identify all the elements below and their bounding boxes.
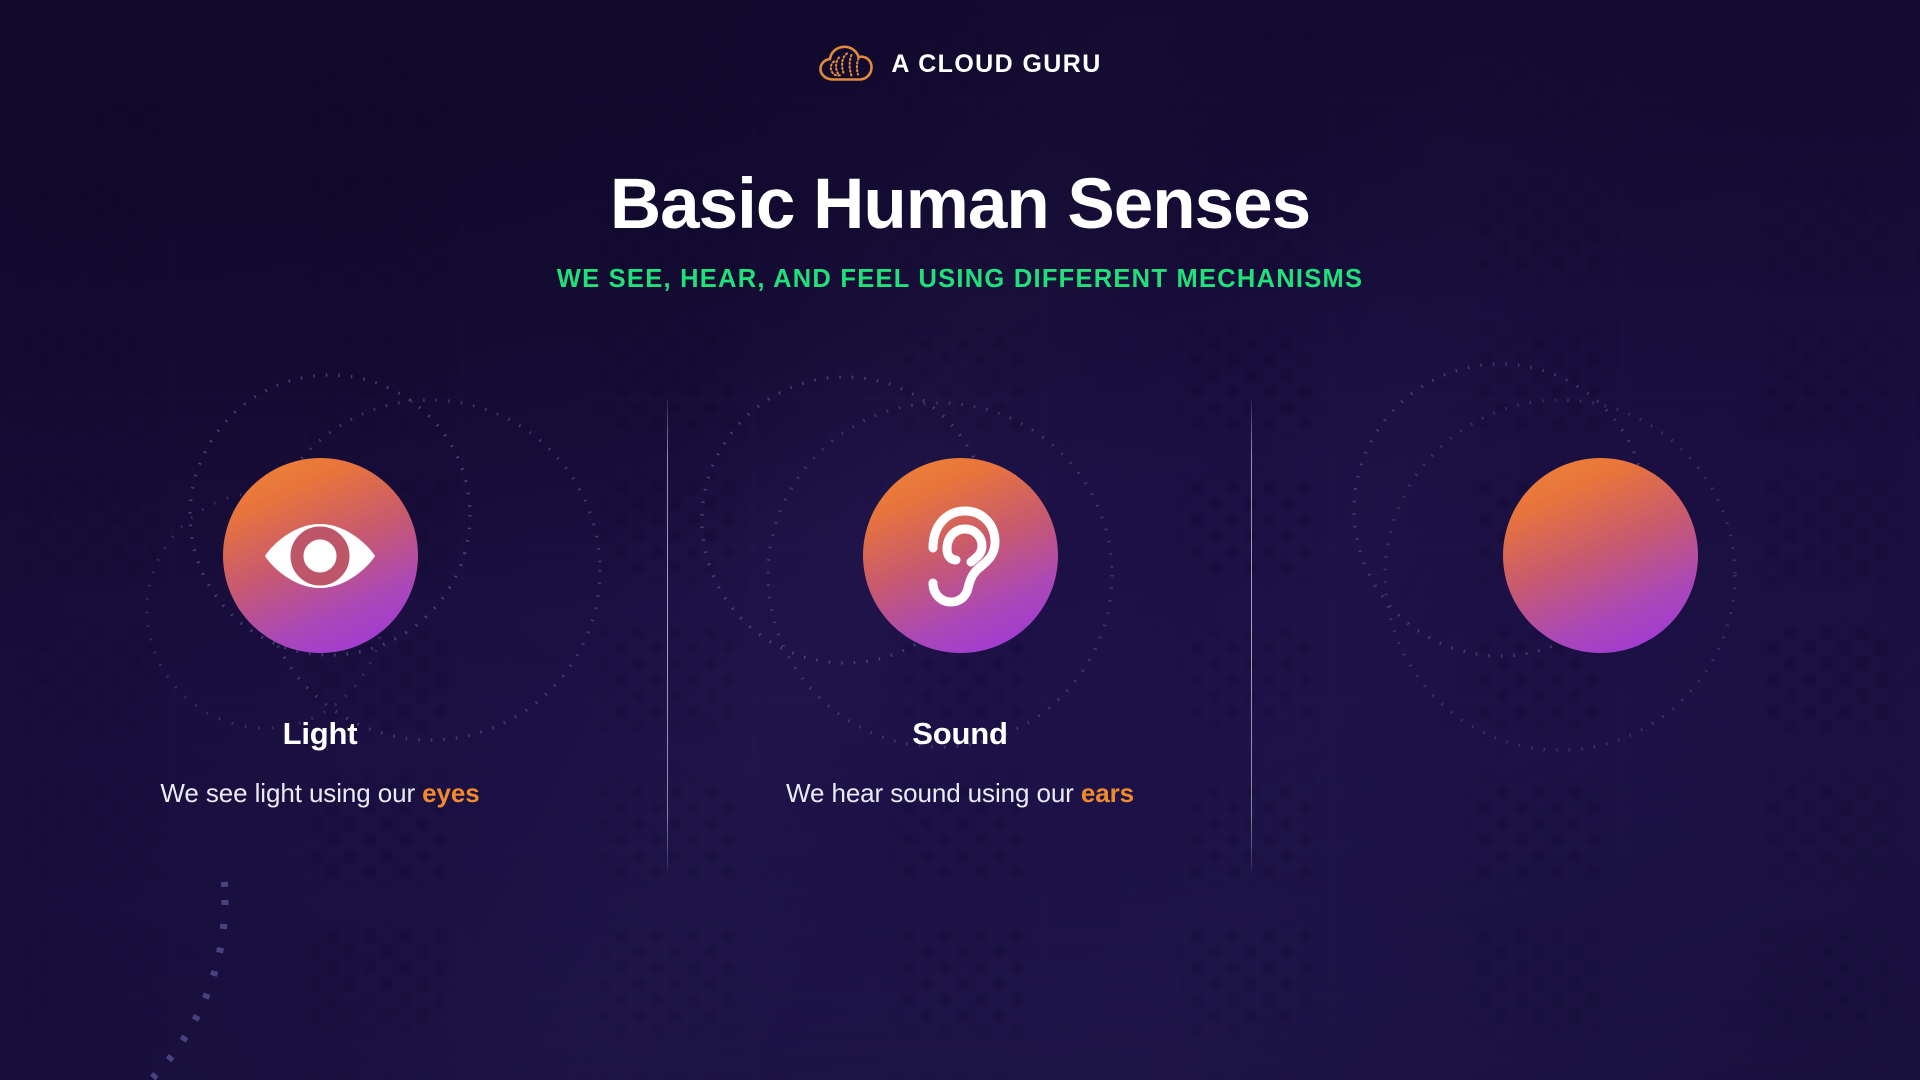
sense-desc-prefix: We see light using our <box>160 778 422 808</box>
dotted-arc-bottom-left <box>0 870 360 1080</box>
sense-desc-highlight: ears <box>1081 778 1134 808</box>
sense-column-sound[interactable]: Sound We hear sound using our ears <box>640 400 1280 870</box>
slide-root: A CLOUD GURU Basic Human Senses WE SEE, … <box>0 0 1920 1080</box>
sense-desc-sound: We hear sound using our ears <box>786 778 1134 809</box>
icon-circle-pending[interactable] <box>1503 458 1698 653</box>
sense-column-light[interactable]: Light We see light using our eyes <box>0 400 640 870</box>
sense-title-sound: Sound <box>912 716 1007 752</box>
icon-circle-sound[interactable] <box>863 458 1058 653</box>
ear-icon <box>917 504 1003 608</box>
brand-name: A CLOUD GURU <box>891 50 1101 79</box>
page-subtitle: WE SEE, HEAR, AND FEEL USING DIFFERENT M… <box>0 265 1920 294</box>
senses-columns: Light We see light using our eyes Sound … <box>0 400 1920 870</box>
sense-desc-light: We see light using our eyes <box>160 778 479 809</box>
title-block: Basic Human Senses WE SEE, HEAR, AND FEE… <box>0 168 1920 294</box>
sense-column-pending[interactable] <box>1280 400 1920 870</box>
column-divider-1 <box>667 400 668 870</box>
column-divider-2 <box>1251 400 1252 870</box>
page-title: Basic Human Senses <box>0 168 1920 242</box>
brand-header: A CLOUD GURU <box>0 0 1920 128</box>
icon-circle-light[interactable] <box>223 458 418 653</box>
sense-desc-highlight: eyes <box>422 778 479 808</box>
cloud-brain-icon <box>818 44 874 84</box>
eye-icon <box>261 516 379 596</box>
sense-desc-prefix: We hear sound using our <box>786 778 1081 808</box>
sense-title-light: Light <box>283 716 358 752</box>
